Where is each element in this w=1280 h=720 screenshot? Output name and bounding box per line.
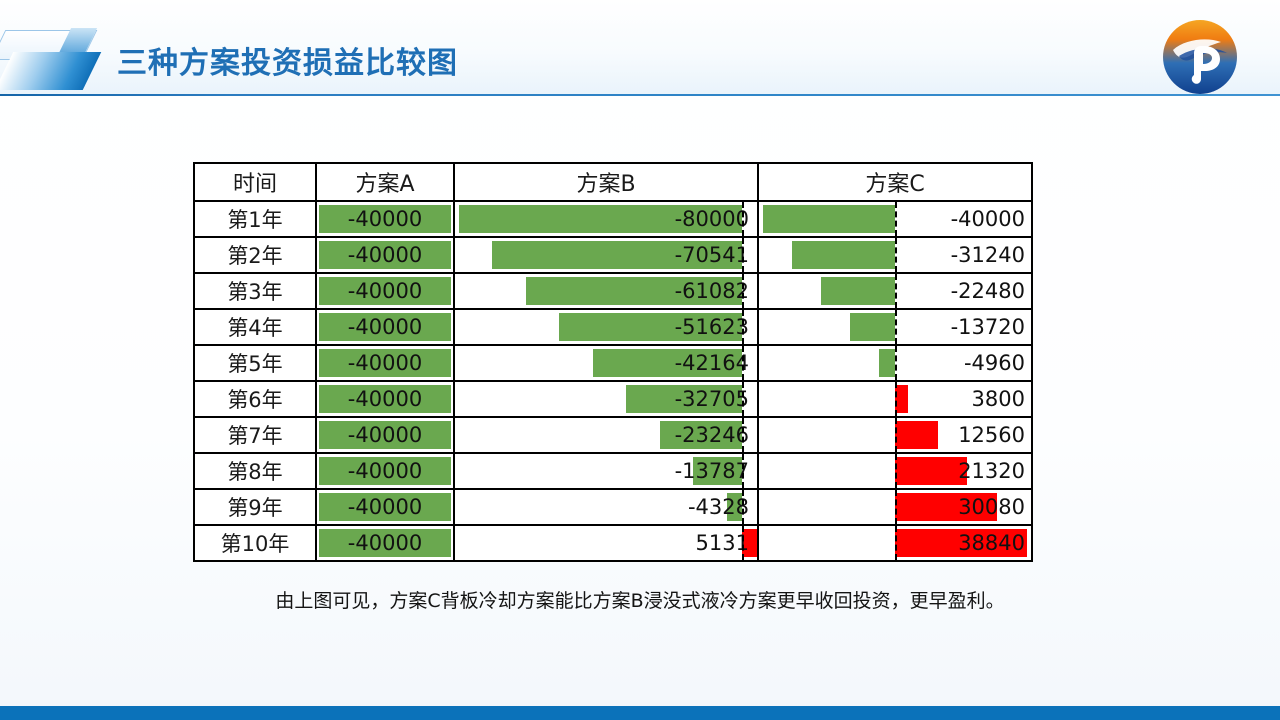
comparison-table-container: 时间 方案A 方案B 方案C 第1年-40000-80000-40000第2年-…: [193, 162, 1031, 558]
zero-axis-plan-c: [895, 382, 897, 416]
cell-plan-a: -40000: [316, 273, 454, 309]
value-plan-b: -32705: [455, 383, 757, 415]
zero-axis-plan-c: [895, 238, 897, 272]
cell-plan-c: -22480: [758, 273, 1032, 309]
zero-axis-plan-b: [742, 526, 744, 560]
cell-plan-c: -13720: [758, 309, 1032, 345]
table-row: 第6年-40000-327053800: [194, 381, 1032, 417]
company-circle-logo-icon: [1163, 20, 1237, 94]
table-row: 第1年-40000-80000-40000: [194, 201, 1032, 237]
cell-plan-b: -4328: [454, 489, 758, 525]
cell-plan-b: -23246: [454, 417, 758, 453]
zero-axis-plan-b: [742, 418, 744, 452]
value-plan-a: -40000: [317, 203, 453, 235]
footer-accent-bar: [0, 706, 1280, 720]
cell-plan-a: -40000: [316, 417, 454, 453]
cell-plan-c: -40000: [758, 201, 1032, 237]
cell-plan-b: 5131: [454, 525, 758, 561]
page-title: 三种方案投资损益比较图: [117, 38, 458, 82]
value-plan-b: -13787: [455, 455, 757, 487]
cell-plan-c: -4960: [758, 345, 1032, 381]
value-plan-a: -40000: [317, 491, 453, 523]
cell-plan-b: -61082: [454, 273, 758, 309]
cell-plan-c: -31240: [758, 237, 1032, 273]
row-label-year: 第10年: [194, 525, 316, 561]
cell-plan-b: -42164: [454, 345, 758, 381]
zero-axis-plan-c: [895, 526, 897, 560]
value-plan-b: -4328: [455, 491, 757, 523]
table-row: 第3年-40000-61082-22480: [194, 273, 1032, 309]
column-header-plan-a: 方案A: [316, 163, 454, 201]
cell-plan-b: -70541: [454, 237, 758, 273]
zero-axis-plan-c: [895, 274, 897, 308]
cell-plan-a: -40000: [316, 237, 454, 273]
value-plan-b: -42164: [455, 347, 757, 379]
row-label-year: 第6年: [194, 381, 316, 417]
value-plan-a: -40000: [317, 383, 453, 415]
column-header-plan-b: 方案B: [454, 163, 758, 201]
zero-axis-plan-c: [895, 490, 897, 524]
zero-axis-plan-b: [742, 202, 744, 236]
table-row: 第4年-40000-51623-13720: [194, 309, 1032, 345]
cell-plan-a: -40000: [316, 489, 454, 525]
value-plan-b: -80000: [455, 203, 757, 235]
row-label-year: 第9年: [194, 489, 316, 525]
row-label-year: 第3年: [194, 273, 316, 309]
zero-axis-plan-c: [895, 202, 897, 236]
slide-canvas: 三种方案投资损益比较图 时间 方案A 方案B 方案C 第1年-40000-800…: [0, 0, 1280, 720]
value-plan-b: -51623: [455, 311, 757, 343]
table-row: 第7年-40000-2324612560: [194, 417, 1032, 453]
row-label-year: 第1年: [194, 201, 316, 237]
row-label-year: 第4年: [194, 309, 316, 345]
cell-plan-b: -13787: [454, 453, 758, 489]
value-plan-b: 5131: [455, 527, 757, 559]
value-plan-b: -23246: [455, 419, 757, 451]
table-row: 第9年-40000-432830080: [194, 489, 1032, 525]
zero-axis-plan-b: [742, 490, 744, 524]
zero-axis-plan-c: [895, 346, 897, 380]
value-plan-a: -40000: [317, 347, 453, 379]
row-label-year: 第8年: [194, 453, 316, 489]
cell-plan-a: -40000: [316, 309, 454, 345]
cell-plan-a: -40000: [316, 453, 454, 489]
row-label-year: 第7年: [194, 417, 316, 453]
investment-comparison-table: 时间 方案A 方案B 方案C 第1年-40000-80000-40000第2年-…: [193, 162, 1033, 562]
zero-axis-plan-b: [742, 454, 744, 488]
zero-axis-plan-b: [742, 274, 744, 308]
value-plan-a: -40000: [317, 275, 453, 307]
value-plan-a: -40000: [317, 419, 453, 451]
zero-axis-plan-c: [895, 454, 897, 488]
cell-plan-a: -40000: [316, 381, 454, 417]
table-row: 第2年-40000-70541-31240: [194, 237, 1032, 273]
cell-plan-a: -40000: [316, 525, 454, 561]
zero-axis-plan-b: [742, 346, 744, 380]
column-header-plan-c: 方案C: [758, 163, 1032, 201]
zero-axis-plan-b: [742, 238, 744, 272]
table-row: 第10年-40000513138840: [194, 525, 1032, 561]
table-row: 第5年-40000-42164-4960: [194, 345, 1032, 381]
cell-plan-c: 38840: [758, 525, 1032, 561]
value-plan-a: -40000: [317, 239, 453, 271]
value-plan-a: -40000: [317, 311, 453, 343]
row-label-year: 第5年: [194, 345, 316, 381]
zero-axis-plan-b: [742, 382, 744, 416]
slide-header: 三种方案投资损益比较图: [0, 0, 1280, 96]
cell-plan-b: -32705: [454, 381, 758, 417]
table-row: 第8年-40000-1378721320: [194, 453, 1032, 489]
parallelogram-solid-icon: [0, 52, 101, 90]
cell-plan-c: 12560: [758, 417, 1032, 453]
slide-caption: 由上图可见，方案C背板冷却方案能比方案B浸没式液冷方案更早收回投资，更早盈利。: [0, 586, 1280, 613]
row-label-year: 第2年: [194, 237, 316, 273]
cell-plan-a: -40000: [316, 201, 454, 237]
cell-plan-b: -80000: [454, 201, 758, 237]
cell-plan-a: -40000: [316, 345, 454, 381]
zero-axis-plan-c: [895, 418, 897, 452]
cell-plan-c: 21320: [758, 453, 1032, 489]
value-plan-a: -40000: [317, 527, 453, 559]
value-plan-b: -70541: [455, 239, 757, 271]
cell-plan-c: 30080: [758, 489, 1032, 525]
zero-axis-plan-b: [742, 310, 744, 344]
logo-swoosh-icon: [1163, 20, 1237, 94]
cell-plan-b: -51623: [454, 309, 758, 345]
zero-axis-plan-c: [895, 310, 897, 344]
value-plan-b: -61082: [455, 275, 757, 307]
cell-plan-c: 3800: [758, 381, 1032, 417]
column-header-time: 时间: [194, 163, 316, 201]
table-header-row: 时间 方案A 方案B 方案C: [194, 163, 1032, 201]
value-plan-a: -40000: [317, 455, 453, 487]
header-divider: [0, 94, 1280, 96]
